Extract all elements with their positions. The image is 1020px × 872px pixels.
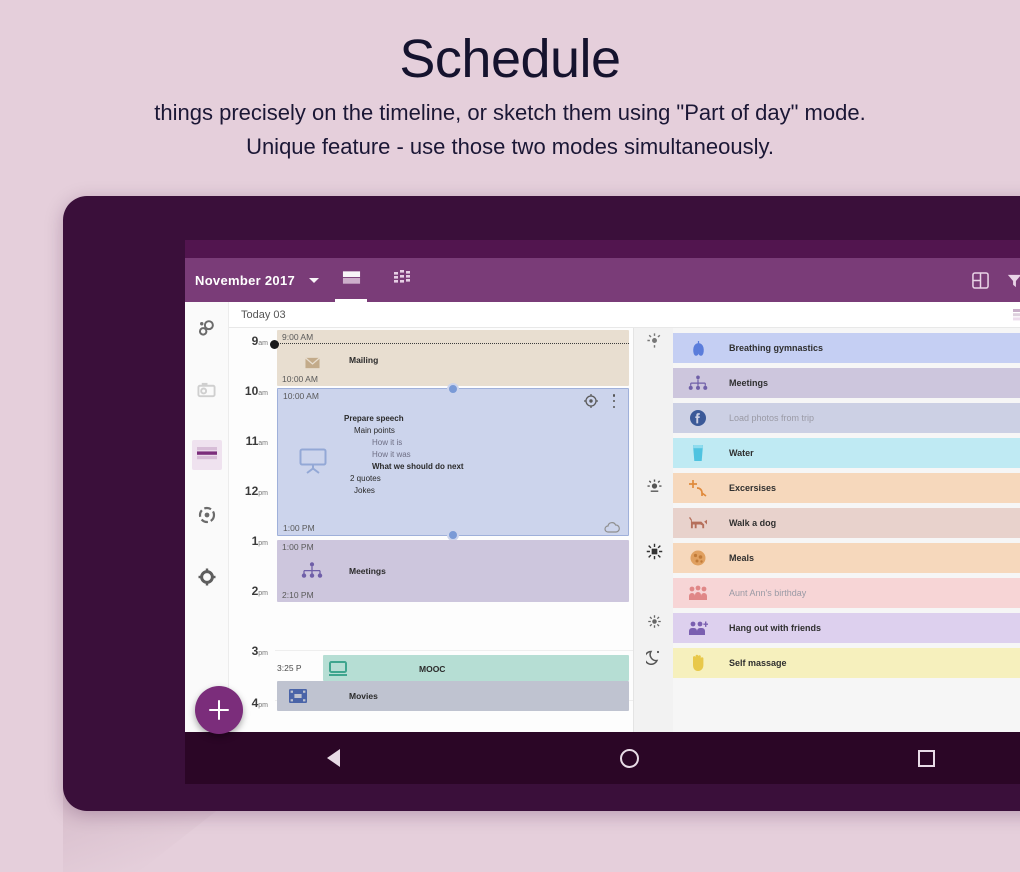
event-label: Movies xyxy=(349,691,378,701)
list-item[interactable]: Hang out with friends 1h 20m xyxy=(673,613,1020,643)
list-item[interactable]: Excersises 15m xyxy=(673,473,1020,503)
note-line: Main points xyxy=(354,425,395,437)
hour-gridline xyxy=(275,650,633,651)
list-item[interactable]: Walk a dog 30m xyxy=(673,508,1020,538)
activity-label: Load photos from trip xyxy=(713,413,1020,423)
sidebar-item-schedule[interactable] xyxy=(192,440,222,470)
hour-label: 2pm xyxy=(229,584,275,598)
tab-timeline[interactable] xyxy=(331,258,371,302)
activity-list[interactable]: Breathing gymnastics 15m Meetings 6h xyxy=(673,328,1020,732)
tab-grid[interactable] xyxy=(383,258,423,302)
sun-small-icon xyxy=(646,478,663,500)
activity-label: Water xyxy=(713,448,1020,458)
event-end-time: 10:00 AM xyxy=(282,374,318,384)
presentation-icon xyxy=(298,447,328,475)
back-triangle-icon xyxy=(327,749,340,767)
note-line: Prepare speech xyxy=(344,413,404,425)
chevron-down-icon[interactable] xyxy=(309,278,319,283)
timeline-view-icon xyxy=(342,270,361,291)
list-item[interactable]: Load photos from trip 3 xyxy=(673,403,1020,433)
promo-subtitle-line1: things precisely on the timeline, or ske… xyxy=(0,90,1020,130)
sunrise-icon xyxy=(646,332,663,354)
filter-icon[interactable] xyxy=(997,258,1020,302)
sidebar-item-settings[interactable] xyxy=(192,564,222,594)
promo-header: Schedule things precisely on the timelin… xyxy=(0,0,1020,196)
activity-label: Self massage xyxy=(713,658,1020,668)
list-item[interactable]: Water 8 xyxy=(673,438,1020,468)
activity-label: Meetings xyxy=(713,378,1020,388)
event-label: MOOC xyxy=(419,664,445,674)
left-nav-rail xyxy=(185,302,229,732)
people-icon xyxy=(683,585,713,601)
event-mooc-time: 3:25 P xyxy=(277,663,302,673)
hour-label: 11am xyxy=(229,434,275,448)
sunset-icon xyxy=(646,613,663,635)
friends-icon xyxy=(683,620,713,636)
schedule-bars-icon xyxy=(197,445,217,466)
hour-gutter: 9am 10am 11am 12pm 1pm 2pm 3pm 4pm xyxy=(229,328,275,732)
activity-label: Hang out with friends xyxy=(713,623,1020,633)
note-line: What we should do next xyxy=(372,461,464,473)
android-status-bar: 9:20 xyxy=(185,240,1020,258)
device-screen: 9:20 November 2017 xyxy=(185,240,1020,732)
grid-view-icon xyxy=(394,270,412,291)
gears-icon xyxy=(197,319,216,343)
event-end-time: 2:10 PM xyxy=(282,590,314,600)
dog-icon xyxy=(683,515,713,532)
note-line: 2 quotes xyxy=(350,473,381,485)
promo-subtitle-line2: Unique feature - use those two modes sim… xyxy=(0,130,1020,164)
part-of-day-early-morning[interactable] xyxy=(634,332,674,354)
part-of-day-divider[interactable] xyxy=(277,343,629,344)
note-line: How it is xyxy=(372,437,402,449)
event-end-time: 1:00 PM xyxy=(283,523,315,533)
note-camera-icon xyxy=(197,381,216,405)
glass-icon xyxy=(683,444,713,462)
part-of-day-night[interactable] xyxy=(634,648,674,670)
day-header-label: Today 03 xyxy=(241,309,286,321)
facebook-icon xyxy=(683,409,713,427)
event-label: Meetings xyxy=(349,566,386,576)
sun-icon xyxy=(646,543,663,565)
meeting-icon xyxy=(683,375,713,392)
lungs-icon xyxy=(683,340,713,357)
part-of-day-noon[interactable] xyxy=(634,543,674,565)
hour-label: 3pm xyxy=(229,644,275,658)
sidebar-item-stats[interactable] xyxy=(192,502,222,532)
day-header: Today 03 xyxy=(229,302,1020,328)
event-mooc[interactable]: MOOC xyxy=(323,655,629,681)
android-nav-bar xyxy=(185,732,1020,784)
part-of-day-morning[interactable] xyxy=(634,478,674,500)
activity-label: Aunt Ann's birthday xyxy=(713,588,1020,598)
add-button[interactable] xyxy=(195,686,243,734)
event-resize-handle-top[interactable] xyxy=(447,383,459,395)
cloud-icon[interactable] xyxy=(604,520,618,531)
activity-label: Breathing gymnastics xyxy=(713,343,1020,353)
list-item[interactable]: Breathing gymnastics 15m xyxy=(673,333,1020,363)
part-of-day-rail xyxy=(633,328,674,732)
pie-chart-icon xyxy=(198,506,216,529)
list-view-icon[interactable] xyxy=(1003,302,1020,328)
sidebar-item-tasks[interactable] xyxy=(192,316,222,346)
event-label: Mailing xyxy=(349,355,378,365)
mail-icon xyxy=(301,352,323,374)
timeline-panel[interactable]: 9am 10am 11am 12pm 1pm 2pm 3pm 4pm 9:00 … xyxy=(229,328,633,732)
event-movies[interactable]: Movies xyxy=(277,681,629,711)
kebab-menu-icon[interactable] xyxy=(612,394,616,408)
activity-label: Excersises xyxy=(713,483,1020,493)
nav-back-button[interactable] xyxy=(303,732,363,784)
food-icon xyxy=(683,549,713,567)
event-prepare-speech[interactable]: 10:00 AM 1:00 PM xyxy=(277,388,629,536)
event-start-time: 1:00 PM xyxy=(282,542,314,552)
sidebar-item-notes[interactable] xyxy=(192,378,222,408)
activity-label: Meals xyxy=(713,553,1020,563)
list-item[interactable]: Self massage 10m xyxy=(673,648,1020,678)
hour-label: 12pm xyxy=(229,484,275,498)
note-line: Jokes xyxy=(354,485,375,497)
home-circle-icon xyxy=(620,749,639,768)
event-mailing[interactable]: 9:00 AM 10:00 AM Mailing xyxy=(277,330,629,386)
gear-icon xyxy=(198,568,216,591)
nav-recents-button[interactable] xyxy=(897,732,957,784)
meeting-icon xyxy=(301,560,323,582)
split-view-icon[interactable] xyxy=(963,258,997,302)
list-item[interactable]: Meals 1h xyxy=(673,543,1020,573)
app-toolbar: November 2017 xyxy=(185,258,1020,302)
moon-icon xyxy=(646,649,662,670)
hour-label: 1pm xyxy=(229,534,275,548)
hour-label: 10am xyxy=(229,384,275,398)
list-item[interactable]: Meetings 6h xyxy=(673,368,1020,398)
movie-icon xyxy=(287,685,309,707)
event-meetings[interactable]: 1:00 PM 2:10 PM Meetings xyxy=(277,540,629,602)
study-icon xyxy=(327,658,349,680)
list-item[interactable]: Aunt Ann's birthday xyxy=(673,578,1020,608)
hand-icon xyxy=(683,654,713,672)
page-title: Schedule xyxy=(0,0,1020,90)
recents-square-icon xyxy=(918,750,935,767)
tablet-device-frame: 9:20 November 2017 xyxy=(63,196,1020,811)
timeline-track[interactable]: 9:00 AM 10:00 AM Mailing 10:00 AM 1: xyxy=(275,328,633,732)
target-icon[interactable] xyxy=(584,394,598,408)
activity-label: Walk a dog xyxy=(713,518,1020,528)
part-of-day-evening[interactable] xyxy=(634,613,674,635)
hour-label: 9am xyxy=(229,334,275,348)
note-line: How it was xyxy=(372,449,411,461)
event-start-time: 10:00 AM xyxy=(283,391,319,401)
nav-home-button[interactable] xyxy=(600,732,660,784)
app-body: Today 03 xyxy=(185,302,1020,732)
month-title[interactable]: November 2017 xyxy=(195,273,295,288)
stretch-icon xyxy=(683,479,713,497)
divider-knob[interactable] xyxy=(270,340,279,349)
event-start-time: 9:00 AM xyxy=(282,332,313,342)
